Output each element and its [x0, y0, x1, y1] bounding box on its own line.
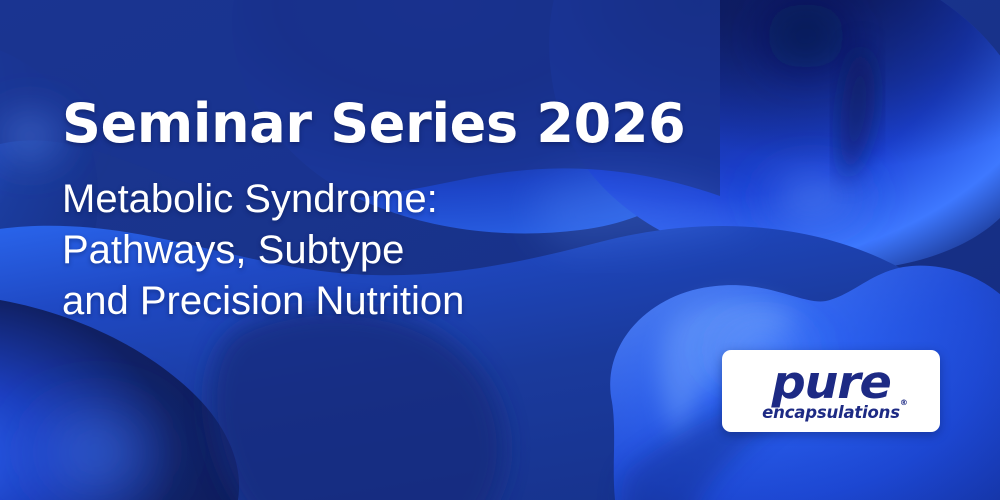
seminar-banner: Seminar Series 2026 Metabolic Syndrome: …	[0, 0, 1000, 500]
logo-tagline: encapsulations	[762, 405, 900, 422]
banner-text-block: Seminar Series 2026 Metabolic Syndrome: …	[62, 96, 762, 327]
logo-inner: pure encapsulations ®	[722, 350, 940, 432]
event-title: Seminar Series 2026	[62, 96, 762, 152]
event-subtitle-line-2: Pathways, Subtype	[62, 225, 762, 276]
event-subtitle: Metabolic Syndrome: Pathways, Subtype an…	[62, 174, 762, 326]
event-subtitle-line-1: Metabolic Syndrome:	[62, 174, 762, 225]
registered-trademark-icon: ®	[900, 399, 908, 407]
event-subtitle-line-3: and Precision Nutrition	[62, 276, 762, 327]
logo-wordmark: pure	[772, 362, 891, 403]
pure-encapsulations-logo: pure encapsulations ®	[722, 350, 940, 432]
logo-tagline-wrap: encapsulations ®	[762, 405, 900, 422]
